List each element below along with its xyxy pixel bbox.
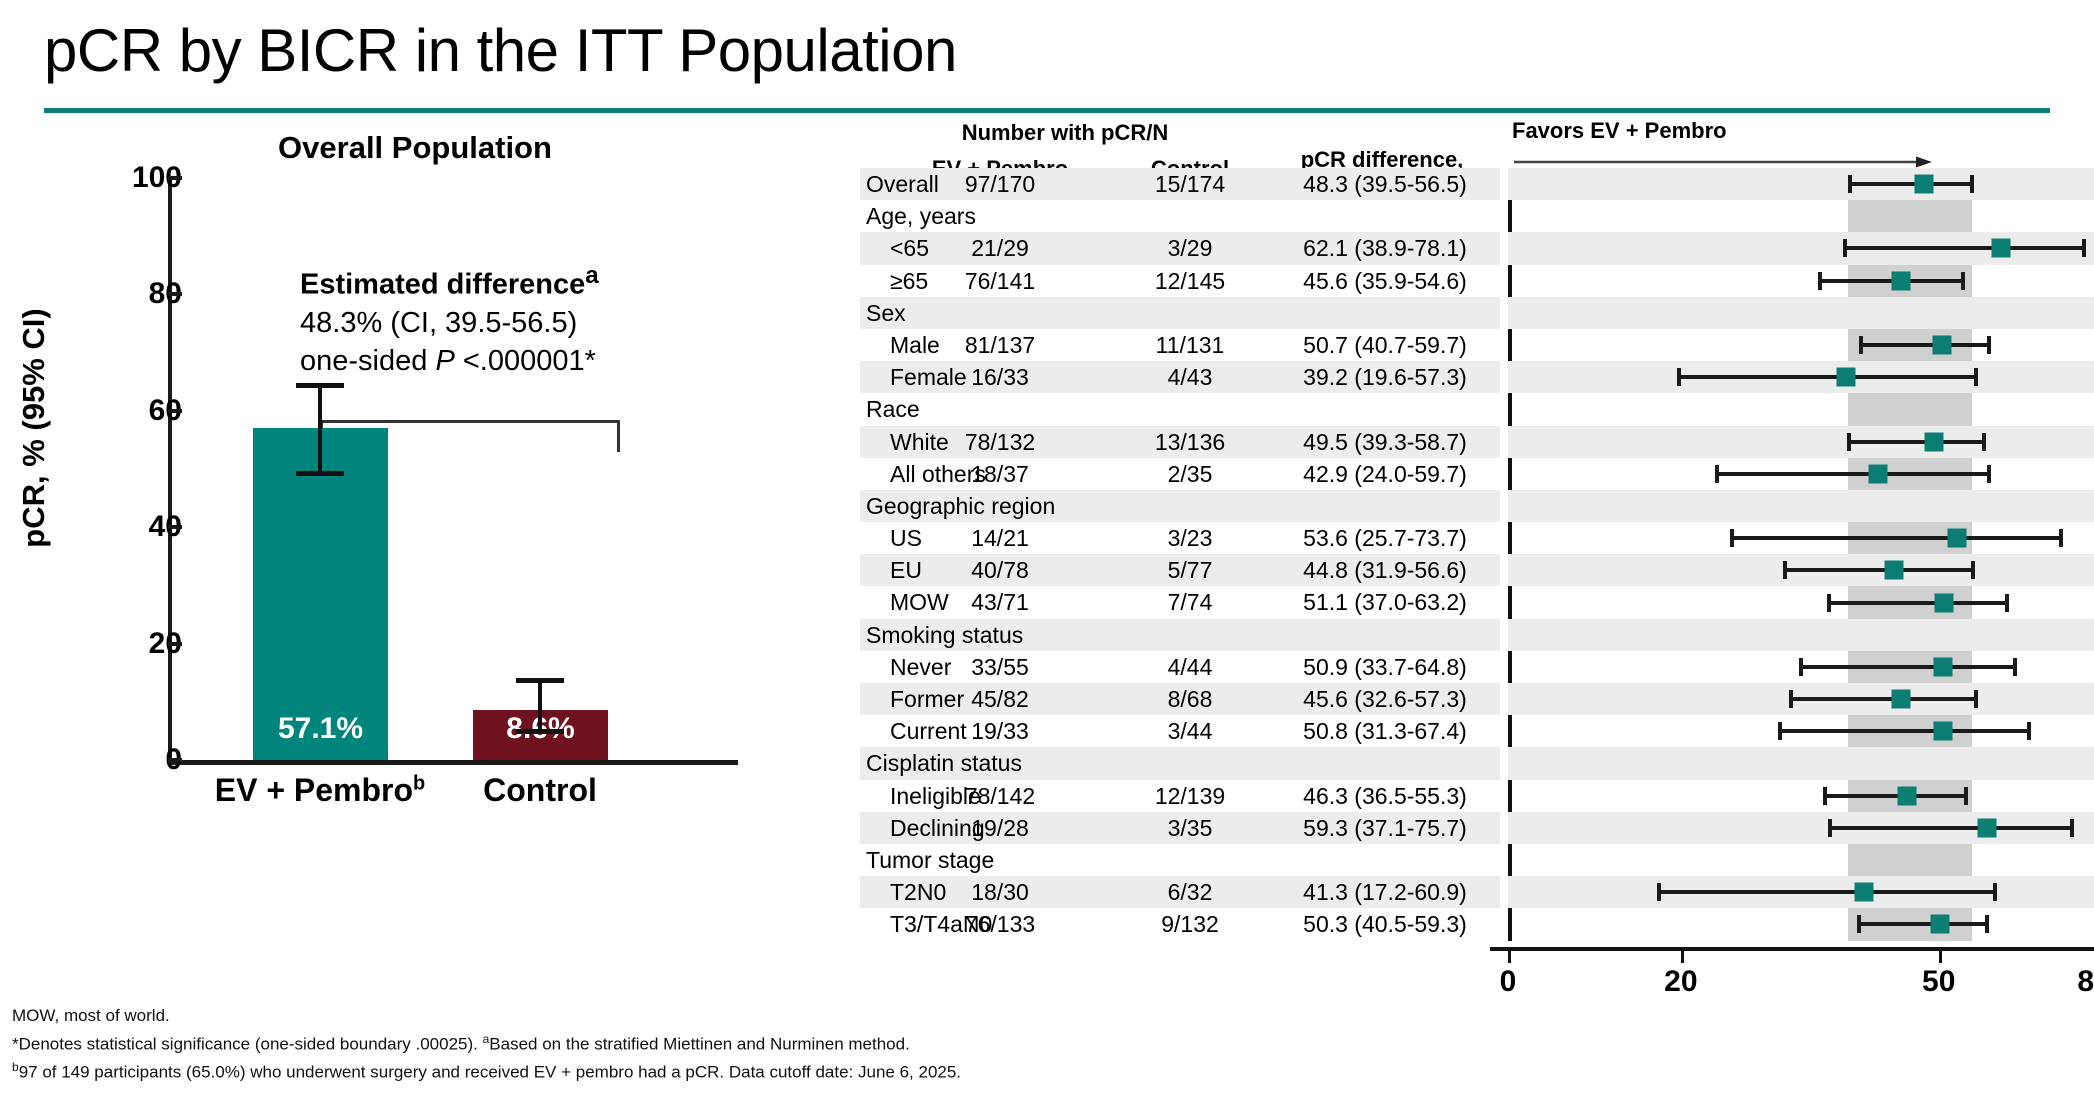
row-control-value: 3/35 — [1110, 815, 1270, 842]
title-underline-rule — [44, 108, 2050, 113]
slide-root: pCR by BICR in the ITT Population Overal… — [0, 0, 2094, 1100]
row-ev-value: 76/141 — [890, 268, 1110, 295]
point-estimate-marker — [1992, 239, 2011, 258]
confidence-interval-line — [1657, 890, 1995, 894]
bar-value-label-ev-pembro: 57.1% — [253, 712, 388, 746]
row-ev-value: 97/170 — [890, 171, 1110, 198]
favors-label: Favors EV + Pembro — [1512, 118, 1852, 144]
table-row: Current19/333/4450.8 (31.3-67.4) — [860, 715, 1500, 747]
point-estimate-marker — [1933, 722, 1952, 741]
confidence-interval-cap-lower — [1827, 594, 1831, 612]
row-label: Tumor stage — [866, 847, 994, 874]
confidence-interval-line — [1843, 246, 2084, 250]
point-estimate-marker — [1933, 336, 1952, 355]
forest-plot-graph — [1508, 168, 2094, 941]
confidence-interval-cap-lower — [1789, 690, 1793, 708]
forest-row — [1508, 715, 2094, 747]
y-tick-mark-0 — [168, 758, 182, 762]
bar-chart-panel: Overall Population pCR, % (95% CI) 02040… — [0, 120, 780, 920]
row-ev-value: 40/78 — [890, 557, 1110, 584]
page-title: pCR by BICR in the ITT Population — [44, 16, 957, 85]
table-row: Race — [860, 393, 1500, 425]
error-cap-upper — [296, 383, 344, 388]
table-row: T2N018/306/3241.3 (17.2-60.9) — [860, 876, 1500, 908]
pvalue-value: <.000001* — [455, 345, 596, 377]
table-row: Sex — [860, 297, 1500, 329]
row-ev-value: 33/55 — [890, 654, 1110, 681]
row-difference-value: 39.2 (19.6-57.3) — [1274, 364, 1496, 391]
confidence-interval-cap-lower — [1823, 787, 1827, 805]
confidence-interval-cap-upper — [2013, 658, 2017, 676]
row-difference-value: 45.6 (35.9-54.6) — [1274, 268, 1496, 295]
error-bar-ev-pembro — [318, 385, 322, 473]
point-estimate-marker — [1931, 915, 1950, 934]
footnote-method: Based on the stratified Miettinen and Nu… — [489, 1034, 910, 1053]
confidence-interval-line — [1818, 279, 1963, 283]
confidence-interval-cap-lower — [1677, 368, 1681, 386]
error-cap-upper — [516, 678, 564, 683]
row-difference-value: 50.8 (31.3-67.4) — [1274, 718, 1496, 745]
error-cap-lower — [516, 729, 564, 734]
point-estimate-marker — [1935, 593, 1954, 612]
row-difference-value: 42.9 (24.0-59.7) — [1274, 461, 1496, 488]
table-row: White78/13213/13649.5 (39.3-58.7) — [860, 426, 1500, 458]
point-estimate-marker — [1977, 818, 1996, 837]
forest-row — [1508, 426, 2094, 458]
row-difference-value: 62.1 (38.9-78.1) — [1274, 235, 1496, 262]
point-estimate-marker — [1891, 271, 1910, 290]
x-tick-0 — [1508, 947, 1511, 963]
confidence-interval-cap-upper — [1964, 787, 1968, 805]
confidence-interval-line — [1677, 375, 1976, 379]
bar-ev-pembro — [253, 428, 388, 760]
bar-chart-y-axis-title: pCR, % (95% CI) — [16, 198, 52, 658]
row-difference-value: 50.3 (40.5-59.3) — [1274, 911, 1496, 938]
row-difference-value: 53.6 (25.7-73.7) — [1274, 525, 1496, 552]
confidence-interval-line — [1827, 601, 2007, 605]
row-control-value: 6/32 — [1110, 879, 1270, 906]
row-control-value: 8/68 — [1110, 686, 1270, 713]
row-control-value: 3/23 — [1110, 525, 1270, 552]
row-ev-value: 21/29 — [890, 235, 1110, 262]
confidence-interval-cap-lower — [1859, 336, 1863, 354]
forest-plot-table: Overall97/17015/17448.3 (39.5-56.5)Age, … — [860, 168, 1500, 941]
row-difference-value: 44.8 (31.9-56.6) — [1274, 557, 1496, 584]
footnote-marker-b: b — [413, 772, 425, 794]
table-row: Geographic region — [860, 490, 1500, 522]
confidence-interval-cap-lower — [1848, 175, 1852, 193]
confidence-interval-cap-lower — [1730, 529, 1734, 547]
confidence-interval-cap-lower — [1843, 239, 1847, 257]
confidence-interval-cap-upper — [1961, 272, 1965, 290]
table-row: Former45/828/6845.6 (32.6-57.3) — [860, 683, 1500, 715]
forest-row — [1508, 458, 2094, 490]
footnote-line-3: b97 of 149 participants (65.0%) who unde… — [12, 1058, 1432, 1086]
confidence-interval-line — [1778, 729, 2029, 733]
confidence-interval-line — [1715, 472, 1989, 476]
x-tick-label-0: 0 — [1468, 965, 1548, 999]
row-difference-value: 46.3 (36.5-55.3) — [1274, 783, 1496, 810]
row-control-value: 3/29 — [1110, 235, 1270, 262]
row-ev-value: 19/33 — [890, 718, 1110, 745]
row-difference-value: 48.3 (39.5-56.5) — [1274, 171, 1496, 198]
confidence-interval-cap-lower — [1715, 465, 1719, 483]
table-row: MOW43/717/7451.1 (37.0-63.2) — [860, 586, 1500, 618]
estimated-difference-label: Estimated difference — [300, 269, 585, 301]
table-row: Declining19/283/3559.3 (37.1-75.7) — [860, 812, 1500, 844]
forest-plot-panel: Number with pCR/N EV + Pembro Control pC… — [860, 120, 2094, 1100]
point-estimate-marker — [1948, 529, 1967, 548]
table-row: Tumor stage — [860, 844, 1500, 876]
confidence-interval-cap-upper — [2059, 529, 2063, 547]
row-ev-value: 76/133 — [890, 911, 1110, 938]
confidence-interval-cap-upper — [1970, 175, 1974, 193]
table-row: Overall97/17015/17448.3 (39.5-56.5) — [860, 168, 1500, 200]
forest-row — [1508, 747, 2094, 779]
x-category-ev-pembro: EV + Pembrob — [205, 772, 435, 809]
forest-row — [1508, 619, 2094, 651]
confidence-interval-cap-lower — [1828, 819, 1832, 837]
y-tick-mark-20 — [168, 642, 182, 646]
row-ev-value: 16/33 — [890, 364, 1110, 391]
confidence-interval-line — [1783, 568, 1973, 572]
estimated-difference-value: 48.3% (CI, 39.5-56.5) — [300, 307, 577, 339]
bar-chart-title: Overall Population — [180, 130, 650, 166]
confidence-interval-line — [1847, 440, 1984, 444]
row-label: Age, years — [866, 203, 976, 230]
point-estimate-marker — [1836, 368, 1855, 387]
confidence-interval-line — [1857, 922, 1987, 926]
table-row: Age, years — [860, 200, 1500, 232]
row-ev-value: 43/71 — [890, 589, 1110, 616]
table-row: <6521/293/2962.1 (38.9-78.1) — [860, 232, 1500, 264]
y-tick-mark-80 — [168, 292, 182, 296]
row-difference-value: 51.1 (37.0-63.2) — [1274, 589, 1496, 616]
table-row: Ineligible78/14212/13946.3 (36.5-55.3) — [860, 780, 1500, 812]
forest-row — [1508, 812, 2094, 844]
row-control-value: 12/145 — [1110, 268, 1270, 295]
bar-chart-x-axis — [168, 760, 738, 765]
confidence-interval-cap-upper — [2070, 819, 2074, 837]
point-estimate-marker — [1925, 432, 1944, 451]
point-estimate-marker — [1915, 175, 1934, 194]
point-estimate-marker — [1934, 657, 1953, 676]
forest-row — [1508, 168, 2094, 200]
row-label: Sex — [866, 300, 906, 327]
x-tick-label-20: 20 — [1641, 965, 1721, 999]
y-tick-mark-40 — [168, 525, 182, 529]
confidence-interval-cap-upper — [1982, 433, 1986, 451]
forest-row — [1508, 876, 2094, 908]
row-difference-value: 45.6 (32.6-57.3) — [1274, 686, 1496, 713]
confidence-interval-line — [1848, 182, 1972, 186]
confidence-interval-cap-upper — [2082, 239, 2086, 257]
forest-row — [1508, 200, 2094, 232]
forest-row — [1508, 393, 2094, 425]
point-estimate-marker — [1854, 883, 1873, 902]
point-estimate-marker — [1868, 464, 1887, 483]
row-difference-value: 50.9 (33.7-64.8) — [1274, 654, 1496, 681]
table-row: All others18/372/3542.9 (24.0-59.7) — [860, 458, 1500, 490]
table-row: US14/213/2353.6 (25.7-73.7) — [860, 522, 1500, 554]
row-difference-value: 41.3 (17.2-60.9) — [1274, 879, 1496, 906]
table-row: Smoking status — [860, 619, 1500, 651]
confidence-interval-cap-lower — [1799, 658, 1803, 676]
confidence-interval-cap-upper — [1987, 465, 1991, 483]
row-control-value: 15/174 — [1110, 171, 1270, 198]
row-ev-value: 18/37 — [890, 461, 1110, 488]
table-row: Male81/13711/13150.7 (40.7-59.7) — [860, 329, 1500, 361]
forest-row — [1508, 329, 2094, 361]
pvalue-prefix: one-sided — [300, 345, 435, 377]
footnote-abbreviations: MOW, most of world. — [12, 1002, 1432, 1030]
forest-row — [1508, 651, 2094, 683]
row-control-value: 7/74 — [1110, 589, 1270, 616]
forest-row — [1508, 361, 2094, 393]
favors-arrow-icon — [1512, 156, 1932, 168]
confidence-interval-cap-upper — [1971, 561, 1975, 579]
confidence-interval-cap-lower — [1783, 561, 1787, 579]
confidence-interval-line — [1789, 697, 1976, 701]
point-estimate-marker — [1885, 561, 1904, 580]
table-row: ≥6576/14112/14545.6 (35.9-54.6) — [860, 265, 1500, 297]
row-label: Cisplatin status — [866, 750, 1022, 777]
confidence-interval-line — [1730, 536, 2062, 540]
point-estimate-marker — [1891, 690, 1910, 709]
footnote-significance: *Denotes statistical significance (one-s… — [12, 1034, 483, 1053]
forest-row — [1508, 844, 2094, 876]
row-ev-value: 81/137 — [890, 332, 1110, 359]
x-category-control: Control — [425, 772, 655, 809]
footnote-line-2: *Denotes statistical significance (one-s… — [12, 1030, 1432, 1058]
pvalue-symbol: P — [435, 345, 454, 377]
forest-row — [1508, 554, 2094, 586]
row-difference-value: 49.5 (39.3-58.7) — [1274, 429, 1496, 456]
row-label: Geographic region — [866, 493, 1055, 520]
row-control-value: 4/43 — [1110, 364, 1270, 391]
x-tick-label-50: 50 — [1899, 965, 1979, 999]
confidence-interval-line — [1828, 826, 2072, 830]
row-label: Smoking status — [866, 622, 1023, 649]
footnote-sup-b: b — [12, 1060, 19, 1074]
table-row: T3/T4aN076/1339/13250.3 (40.5-59.3) — [860, 908, 1500, 940]
row-control-value: 4/44 — [1110, 654, 1270, 681]
row-ev-value: 78/132 — [890, 429, 1110, 456]
table-row: Never33/554/4450.9 (33.7-64.8) — [860, 651, 1500, 683]
forest-row — [1508, 683, 2094, 715]
error-bar-control — [538, 680, 542, 732]
confidence-interval-cap-upper — [1985, 915, 1989, 933]
confidence-interval-cap-upper — [1974, 690, 1978, 708]
confidence-interval-cap-upper — [2005, 594, 2009, 612]
confidence-interval-line — [1823, 794, 1966, 798]
x-tick-label-80: 80 — [2054, 965, 2094, 999]
estimated-difference-annotation: Estimated differencea 48.3% (CI, 39.5-56… — [300, 260, 700, 380]
point-estimate-marker — [1897, 786, 1916, 805]
table-row: Female16/334/4339.2 (19.6-57.3) — [860, 361, 1500, 393]
footnotes: MOW, most of world. *Denotes statistical… — [12, 1002, 1432, 1086]
forest-row — [1508, 908, 2094, 940]
forest-plot-x-axis-line — [1490, 947, 2094, 951]
row-control-value: 3/44 — [1110, 718, 1270, 745]
y-tick-mark-100 — [168, 176, 182, 180]
confidence-interval-cap-lower — [1818, 272, 1822, 290]
bar-chart-y-axis — [168, 178, 172, 762]
confidence-interval-line — [1799, 665, 2016, 669]
x-category-text: Control — [483, 772, 597, 808]
confidence-interval-cap-lower — [1657, 883, 1661, 901]
forest-row — [1508, 265, 2094, 297]
forest-row — [1508, 232, 2094, 264]
table-row: EU40/785/7744.8 (31.9-56.6) — [860, 554, 1500, 586]
row-control-value: 9/132 — [1110, 911, 1270, 938]
forest-row — [1508, 522, 2094, 554]
x-category-text: EV + Pembro — [215, 772, 413, 808]
error-cap-lower — [296, 471, 344, 476]
footnote-marker-a: a — [585, 262, 598, 289]
row-ev-value: 14/21 — [890, 525, 1110, 552]
row-control-value: 13/136 — [1110, 429, 1270, 456]
forest-row — [1508, 780, 2094, 812]
confidence-interval-cap-upper — [1987, 336, 1991, 354]
x-tick-20 — [1681, 947, 1684, 963]
y-tick-mark-60 — [168, 409, 182, 413]
row-difference-value: 59.3 (37.1-75.7) — [1274, 815, 1496, 842]
row-control-value: 12/139 — [1110, 783, 1270, 810]
row-ev-value: 19/28 — [890, 815, 1110, 842]
column-header-number-with-pcr: Number with pCR/N — [860, 120, 1270, 146]
forest-row — [1508, 297, 2094, 329]
row-ev-value: 45/82 — [890, 686, 1110, 713]
row-ev-value: 78/142 — [890, 783, 1110, 810]
forest-row — [1508, 490, 2094, 522]
confidence-interval-cap-lower — [1847, 433, 1851, 451]
row-label: Race — [866, 396, 920, 423]
confidence-interval-cap-upper — [1974, 368, 1978, 386]
confidence-interval-line — [1859, 343, 1989, 347]
row-difference-value: 50.7 (40.7-59.7) — [1274, 332, 1496, 359]
confidence-interval-cap-lower — [1778, 722, 1782, 740]
confidence-interval-cap-upper — [2027, 722, 2031, 740]
x-tick-50 — [1939, 947, 1942, 963]
row-control-value: 5/77 — [1110, 557, 1270, 584]
footnote-surgery: 97 of 149 participants (65.0%) who under… — [19, 1062, 961, 1081]
confidence-interval-cap-upper — [1993, 883, 1997, 901]
table-row: Cisplatin status — [860, 747, 1500, 779]
row-ev-value: 18/30 — [890, 879, 1110, 906]
forest-row — [1508, 586, 2094, 618]
confidence-interval-cap-lower — [1857, 915, 1861, 933]
row-control-value: 2/35 — [1110, 461, 1270, 488]
row-control-value: 11/131 — [1110, 332, 1270, 359]
